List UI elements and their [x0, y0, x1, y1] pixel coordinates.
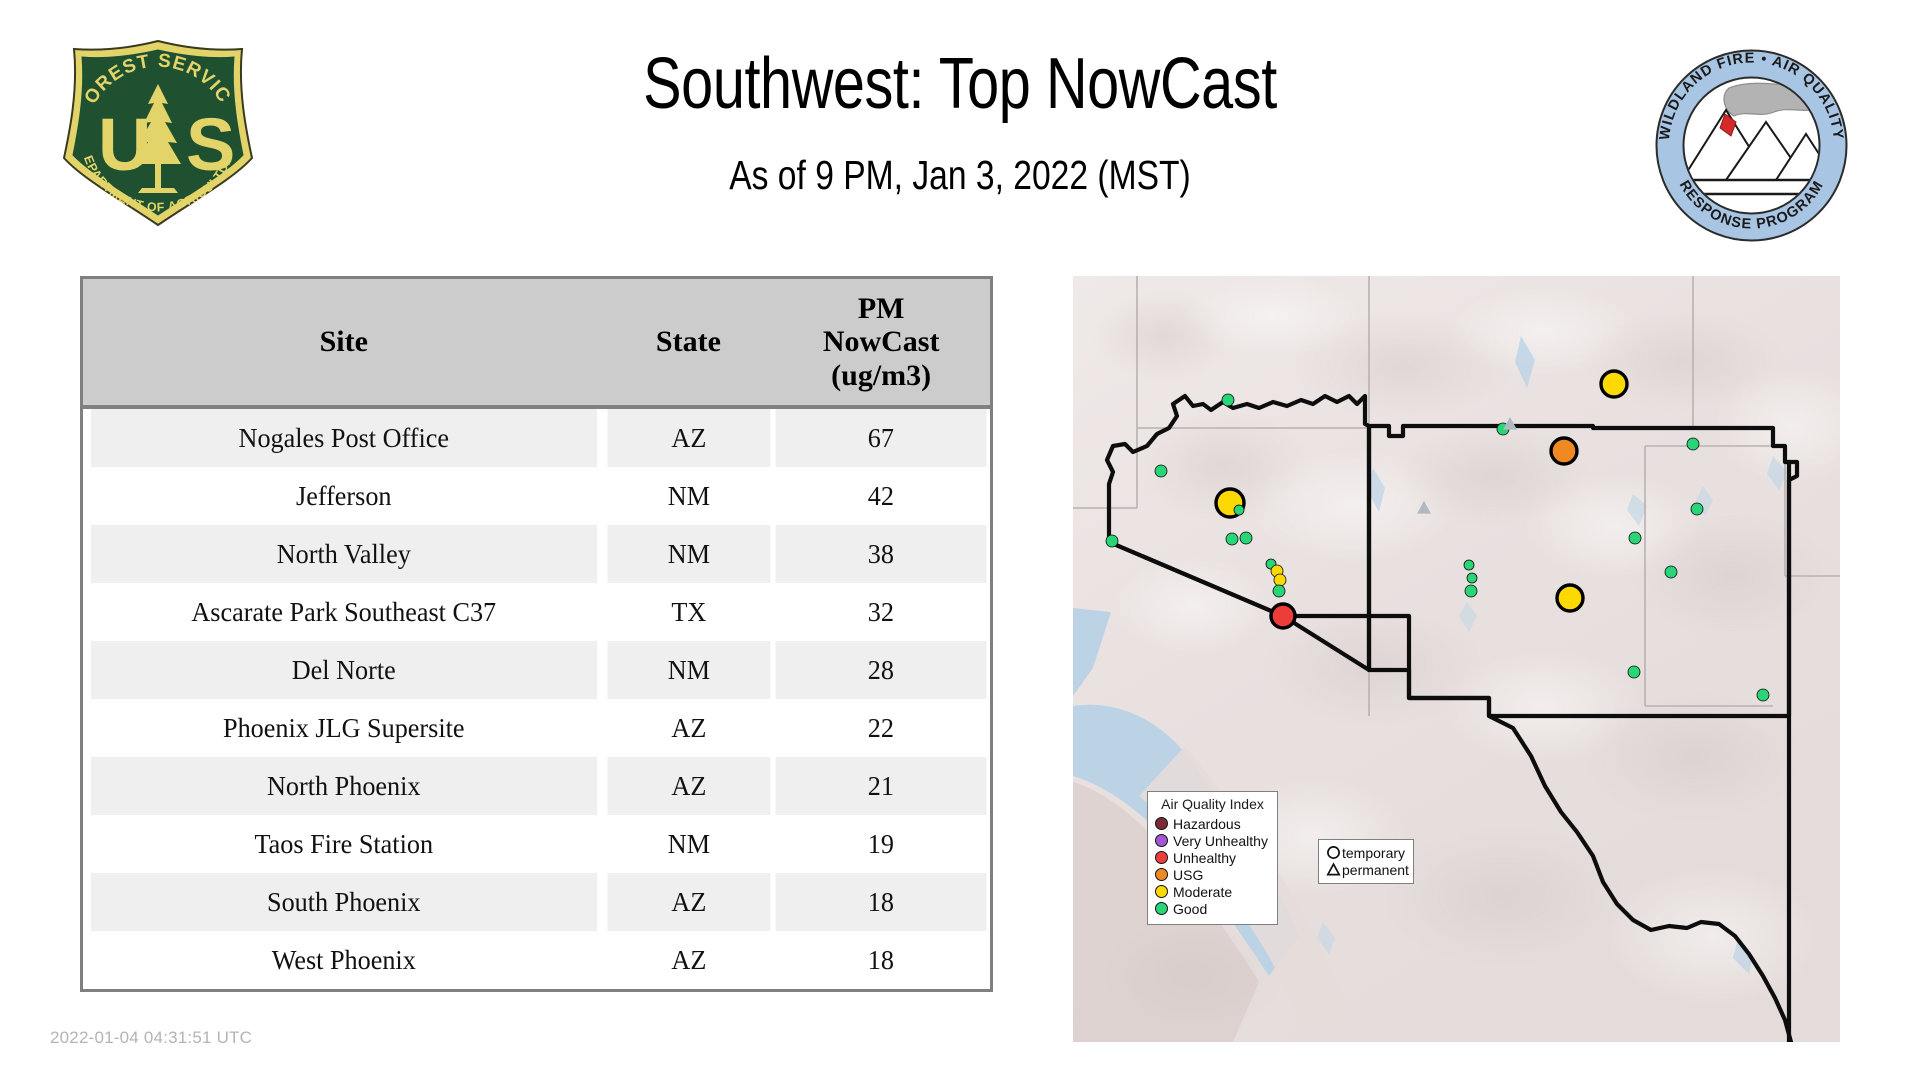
table-row: North PhoenixAZ21: [83, 757, 990, 815]
map-marker-temporary[interactable]: [1629, 532, 1641, 544]
state-cell: NM: [607, 815, 770, 873]
map-marker-temporary[interactable]: [1557, 585, 1583, 611]
page-header: FOREST SERVICE U S DEPARTMENT OF AGRICUL…: [0, 0, 1920, 265]
site-cell: North Valley: [91, 525, 597, 583]
column-header-state: State: [605, 279, 773, 407]
aqi-legend-title: Air Quality Index: [1155, 797, 1270, 812]
map-marker-temporary[interactable]: [1628, 666, 1640, 678]
aqi-color-swatch-icon: [1155, 817, 1168, 830]
aqi-legend-row: Hazardous: [1155, 815, 1270, 832]
site-cell: North Phoenix: [91, 757, 597, 815]
column-header-pm-line1: PM: [772, 292, 990, 326]
site-cell: South Phoenix: [91, 873, 597, 931]
state-cell: NM: [607, 525, 770, 583]
state-cell: NM: [607, 641, 770, 699]
map-canvas[interactable]: [1073, 276, 1840, 1042]
site-cell: West Phoenix: [91, 931, 597, 989]
table-header: Site State PM NowCast (ug/m3): [83, 279, 990, 407]
page-title: Southwest: Top NowCast: [432, 48, 1488, 120]
site-type-label-permanent: permanent: [1342, 863, 1409, 877]
state-cell: AZ: [607, 699, 770, 757]
map-marker-temporary[interactable]: [1464, 560, 1474, 570]
site-cell: Del Norte: [91, 641, 597, 699]
usda-forest-service-shield-logo: FOREST SERVICE U S DEPARTMENT OF AGRICUL…: [56, 38, 261, 228]
map-marker-temporary[interactable]: [1273, 585, 1285, 597]
aqi-legend-row: Moderate: [1155, 883, 1270, 900]
fs-logo-letter-u: U: [98, 103, 151, 186]
state-cell: AZ: [607, 931, 770, 989]
state-cell: NM: [607, 467, 770, 525]
table-row: JeffersonNM42: [83, 467, 990, 525]
map-marker-temporary[interactable]: [1274, 574, 1286, 586]
state-cell: TX: [607, 583, 770, 641]
site-type-legend: temporary permanent: [1318, 839, 1414, 884]
site-cell: Nogales Post Office: [91, 407, 597, 467]
map-marker-temporary[interactable]: [1465, 585, 1477, 597]
state-cell: AZ: [607, 757, 770, 815]
map-marker-temporary[interactable]: [1691, 503, 1703, 515]
triangle-marker-icon: [1325, 862, 1342, 877]
map-marker-temporary[interactable]: [1551, 438, 1577, 464]
aqi-color-swatch-icon: [1155, 902, 1168, 915]
map-marker-temporary[interactable]: [1234, 505, 1244, 515]
pm-nowcast-cell: 18: [776, 931, 987, 989]
site-cell: Ascarate Park Southeast C37: [91, 583, 597, 641]
site-cell: Jefferson: [91, 467, 597, 525]
aqi-legend-label: Very Unhealthy: [1173, 834, 1268, 848]
site-type-label-temporary: temporary: [1342, 846, 1405, 860]
map-marker-temporary[interactable]: [1665, 566, 1677, 578]
map-marker-temporary[interactable]: [1155, 465, 1167, 477]
map-marker-temporary[interactable]: [1687, 438, 1699, 450]
site-type-legend-row-permanent: permanent: [1325, 861, 1407, 878]
column-header-site: Site: [83, 279, 605, 407]
table-header-row: Site State PM NowCast (ug/m3): [83, 279, 990, 407]
map-marker-temporary[interactable]: [1222, 394, 1234, 406]
aqi-legend-label: Unhealthy: [1173, 851, 1236, 865]
table-row: Nogales Post OfficeAZ67: [83, 407, 990, 467]
site-type-legend-row-temporary: temporary: [1325, 844, 1407, 861]
nowcast-table: Site State PM NowCast (ug/m3) Nogales Po…: [83, 279, 990, 989]
aqi-legend: Air Quality Index HazardousVery Unhealth…: [1147, 791, 1278, 925]
column-header-pm-line3: (ug/m3): [772, 359, 990, 393]
aqi-legend-row: Unhealthy: [1155, 849, 1270, 866]
aqi-legend-label: Hazardous: [1173, 817, 1241, 831]
nowcast-table-container: Site State PM NowCast (ug/m3) Nogales Po…: [80, 276, 993, 992]
table-row: North ValleyNM38: [83, 525, 990, 583]
table-row: Phoenix JLG SupersiteAZ22: [83, 699, 990, 757]
table-row: South PhoenixAZ18: [83, 873, 990, 931]
aqi-color-swatch-icon: [1155, 868, 1168, 881]
map-marker-temporary[interactable]: [1757, 689, 1769, 701]
map-marker-temporary[interactable]: [1271, 604, 1295, 628]
pm-nowcast-cell: 32: [776, 583, 987, 641]
state-cell: AZ: [607, 407, 770, 467]
pm-nowcast-cell: 19: [776, 815, 987, 873]
aqi-legend-label: Good: [1173, 902, 1207, 916]
pm-nowcast-cell: 22: [776, 699, 987, 757]
pm-nowcast-cell: 28: [776, 641, 987, 699]
aqi-color-swatch-icon: [1155, 834, 1168, 847]
table-row: Ascarate Park Southeast C37TX32: [83, 583, 990, 641]
column-header-pm-line2: NowCast: [772, 325, 990, 359]
wfaqrp-seal-logo: WILDLAND FIRE • AIR QUALITY RESPONSE PRO…: [1654, 48, 1849, 243]
air-quality-map[interactable]: Air Quality Index HazardousVery Unhealth…: [1073, 276, 1840, 1042]
aqi-legend-row: Very Unhealthy: [1155, 832, 1270, 849]
state-cell: AZ: [607, 873, 770, 931]
site-cell: Phoenix JLG Supersite: [91, 699, 597, 757]
circle-marker-icon: [1325, 845, 1342, 860]
aqi-color-swatch-icon: [1155, 885, 1168, 898]
pm-nowcast-cell: 18: [776, 873, 987, 931]
site-cell: Taos Fire Station: [91, 815, 597, 873]
pm-nowcast-cell: 21: [776, 757, 987, 815]
table-row: Taos Fire StationNM19: [83, 815, 990, 873]
column-header-pm-nowcast: PM NowCast (ug/m3): [772, 279, 990, 407]
aqi-color-swatch-icon: [1155, 851, 1168, 864]
table-row: Del NorteNM28: [83, 641, 990, 699]
title-block: Southwest: Top NowCast As of 9 PM, Jan 3…: [300, 48, 1620, 196]
aqi-legend-label: Moderate: [1173, 885, 1232, 899]
table-row: West PhoenixAZ18: [83, 931, 990, 989]
aqi-legend-row: USG: [1155, 866, 1270, 883]
pm-nowcast-cell: 38: [776, 525, 987, 583]
map-marker-temporary[interactable]: [1106, 535, 1118, 547]
aqi-legend-rows: HazardousVery UnhealthyUnhealthyUSGModer…: [1155, 815, 1270, 917]
pm-nowcast-cell: 67: [776, 407, 987, 467]
page-subtitle: As of 9 PM, Jan 3, 2022 (MST): [419, 155, 1501, 196]
map-marker-temporary[interactable]: [1226, 533, 1238, 545]
map-marker-temporary[interactable]: [1467, 573, 1477, 583]
aqi-legend-row: Good: [1155, 900, 1270, 917]
map-marker-temporary[interactable]: [1601, 371, 1627, 397]
generation-timestamp: 2022-01-04 04:31:51 UTC: [50, 1028, 252, 1048]
table-body: Nogales Post OfficeAZ67JeffersonNM42Nort…: [83, 407, 990, 989]
aqi-legend-label: USG: [1173, 868, 1203, 882]
map-marker-temporary[interactable]: [1240, 532, 1252, 544]
pm-nowcast-cell: 42: [776, 467, 987, 525]
